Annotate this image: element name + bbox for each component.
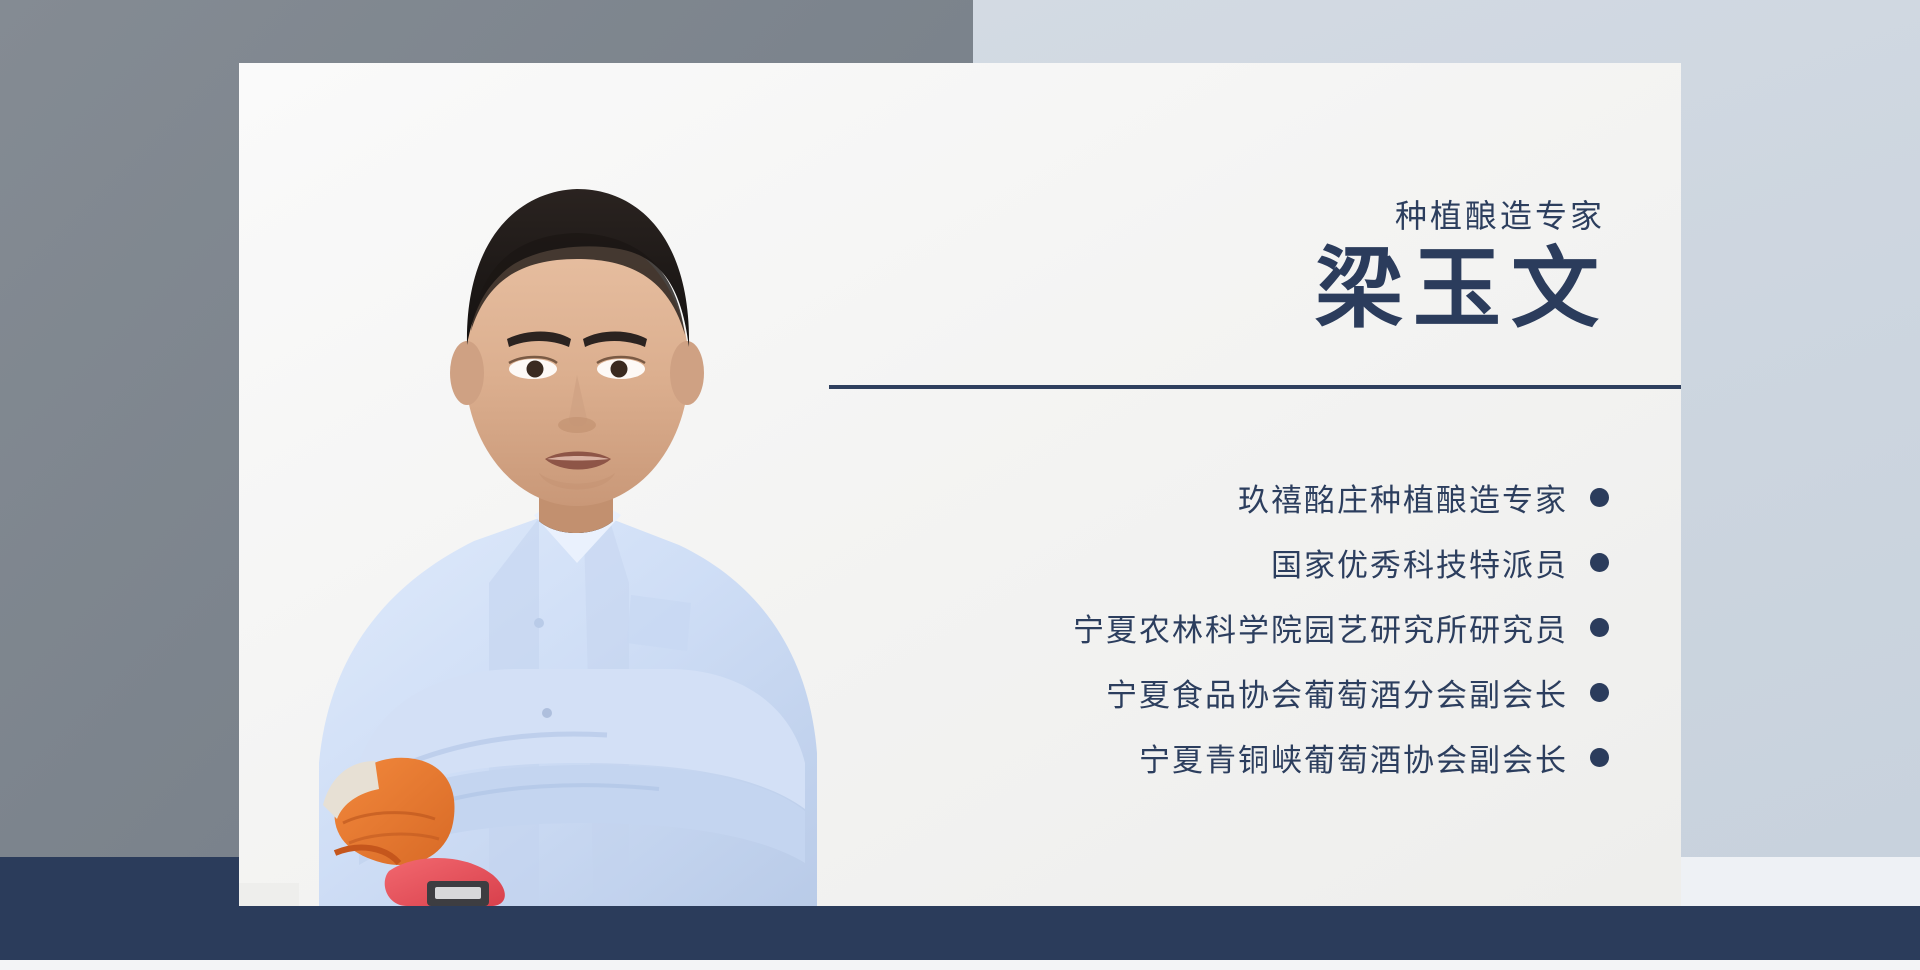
profile-card: 种植酿造专家 梁玉文 玖禧酩庄种植酿造专家 国家优秀科技特派员 宁夏农林科学院园…	[239, 63, 1681, 906]
portrait-photo	[239, 63, 859, 906]
bullet-dot-icon	[1590, 748, 1609, 767]
credential-item: 玖禧酩庄种植酿造专家	[1238, 465, 1609, 530]
bullet-dot-icon	[1590, 618, 1609, 637]
profile-name: 梁玉文	[1315, 245, 1609, 337]
bullet-dot-icon	[1590, 553, 1609, 572]
profile-subtitle: 种植酿造专家	[1395, 191, 1605, 237]
profile-info-column: 种植酿造专家 梁玉文 玖禧酩庄种植酿造专家 国家优秀科技特派员 宁夏农林科学院园…	[939, 63, 1681, 906]
credential-label: 国家优秀科技特派员	[1271, 540, 1568, 585]
credential-item: 国家优秀科技特派员	[1271, 530, 1609, 595]
bullet-dot-icon	[1590, 488, 1609, 507]
credential-item: 宁夏青铜峡葡萄酒协会副会长	[1139, 725, 1609, 790]
background-strip-bottom	[0, 960, 1920, 970]
credential-label: 宁夏青铜峡葡萄酒协会副会长	[1139, 735, 1568, 780]
credentials-list: 玖禧酩庄种植酿造专家 国家优秀科技特派员 宁夏农林科学院园艺研究所研究员 宁夏食…	[1073, 465, 1609, 790]
credential-label: 宁夏农林科学院园艺研究所研究员	[1073, 605, 1568, 650]
profile-card-page: 种植酿造专家 梁玉文 玖禧酩庄种植酿造专家 国家优秀科技特派员 宁夏农林科学院园…	[0, 0, 1920, 970]
credential-label: 玖禧酩庄种植酿造专家	[1238, 475, 1568, 520]
credential-item: 宁夏农林科学院园艺研究所研究员	[1073, 595, 1609, 660]
credential-item: 宁夏食品协会葡萄酒分会副会长	[1106, 660, 1609, 725]
divider-line	[829, 385, 1681, 389]
bullet-dot-icon	[1590, 683, 1609, 702]
credential-label: 宁夏食品协会葡萄酒分会副会长	[1106, 670, 1568, 715]
